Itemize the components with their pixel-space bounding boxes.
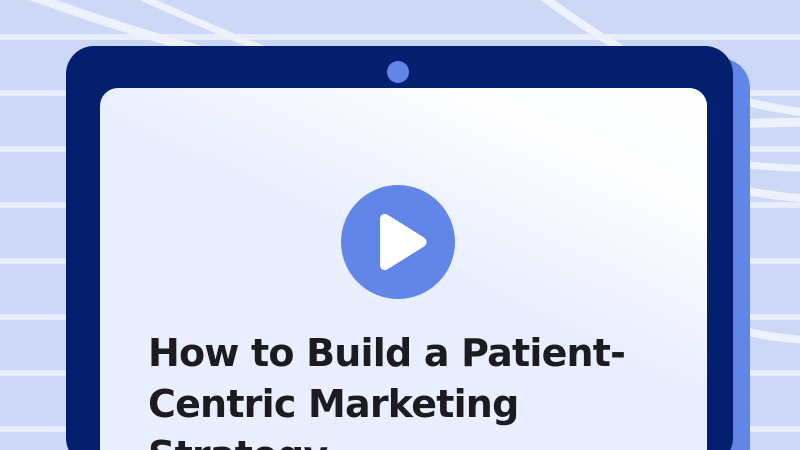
webcam-icon <box>387 61 409 83</box>
play-button[interactable] <box>341 185 455 299</box>
video-title: How to Build a Patient- Centric Marketin… <box>148 328 688 450</box>
video-thumbnail-card: How to Build a Patient- Centric Marketin… <box>0 0 800 450</box>
play-icon <box>372 212 430 272</box>
